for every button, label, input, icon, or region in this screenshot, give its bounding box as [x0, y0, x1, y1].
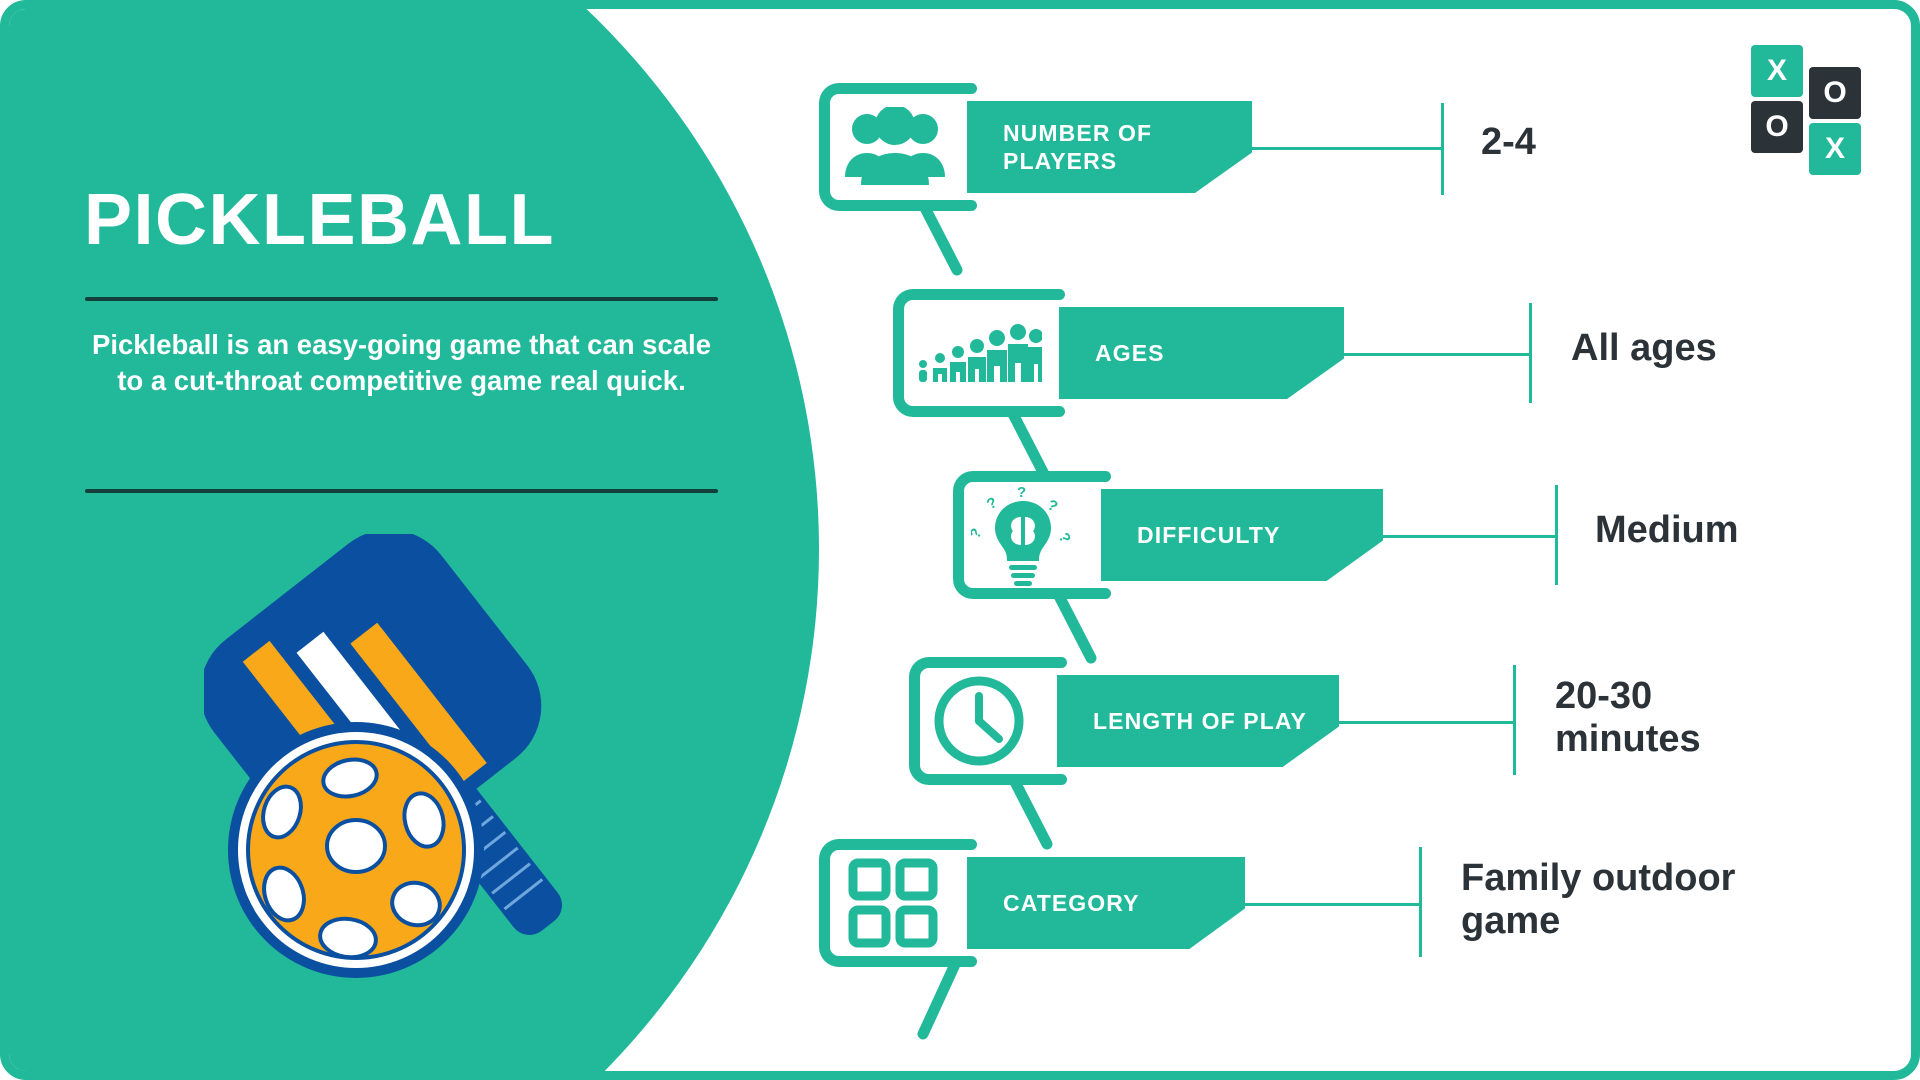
row-category: CATEGORY Family outdoor game — [819, 839, 1909, 989]
divider-top — [85, 297, 718, 301]
label-banner-difficulty: DIFFICULTY — [1101, 489, 1383, 581]
tick-1 — [1441, 103, 1444, 195]
row-difficulty: ? ? ? ? ? DIFFICULTY Medium — [953, 471, 1913, 621]
page-title: PICKLEBALL — [84, 184, 684, 256]
tick-4 — [1513, 665, 1516, 775]
value-number-of-players: 2-4 — [1481, 121, 1861, 164]
growing-people-ages-icon — [915, 299, 1043, 407]
label-banner-length-of-play: LENGTH OF PLAY — [1057, 675, 1339, 767]
connector-tail-5 — [917, 956, 987, 1046]
connector-line-1 — [1219, 147, 1443, 150]
infographic-canvas: PICKLEBALL Pickleball is an easy-going g… — [0, 0, 1920, 1080]
description-text: Pickleball is an easy-going game that ca… — [85, 327, 718, 400]
connector-line-2 — [1311, 353, 1531, 356]
svg-text:?: ? — [1044, 496, 1060, 515]
tick-3 — [1555, 485, 1558, 585]
left-content: PICKLEBALL Pickleball is an easy-going g… — [9, 9, 709, 1080]
divider-bottom — [85, 489, 718, 493]
svg-text:?: ? — [984, 494, 1000, 513]
svg-text:?: ? — [1017, 484, 1026, 501]
value-difficulty: Medium — [1595, 509, 1920, 552]
connector-line-4 — [1307, 721, 1515, 724]
lightbulb-brain-icon: ? ? ? ? ? — [963, 481, 1083, 589]
svg-text:?: ? — [971, 526, 986, 542]
row-length-of-play: LENGTH OF PLAY 20-30 minutes — [909, 657, 1909, 807]
value-length-of-play: 20-30 minutes — [1555, 675, 1920, 760]
label-banner-number-of-players: NUMBER OF PLAYERS — [967, 101, 1252, 193]
connector-line-5 — [1213, 903, 1421, 906]
tick-5 — [1419, 847, 1422, 957]
clock-icon — [919, 667, 1039, 775]
row-ages: AGES All ages — [893, 289, 1903, 439]
row-number-of-players: NUMBER OF PLAYERS 2-4 — [819, 83, 1879, 233]
value-ages: All ages — [1571, 327, 1920, 370]
label-banner-ages: AGES — [1059, 307, 1344, 399]
pickleball-paddle-icon — [204, 534, 624, 994]
label-banner-category: CATEGORY — [967, 857, 1245, 949]
tick-2 — [1529, 303, 1532, 403]
connector-tail-1 — [917, 200, 987, 280]
connector-line-3 — [1351, 535, 1557, 538]
connector-tail-3 — [1051, 588, 1121, 668]
value-category: Family outdoor game — [1461, 857, 1901, 942]
grid-squares-icon — [833, 849, 953, 957]
group-of-people-icon — [835, 93, 955, 201]
svg-text:?: ? — [1055, 530, 1074, 546]
